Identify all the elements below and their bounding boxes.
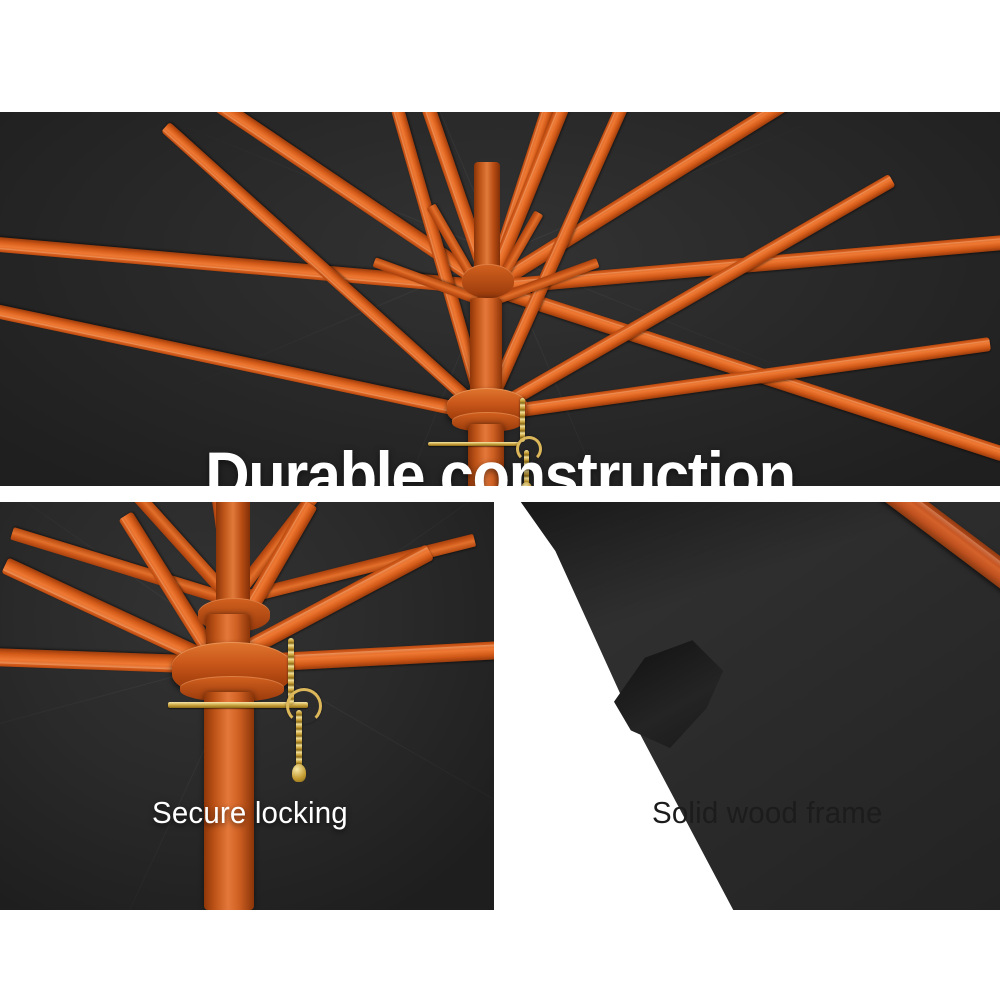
brass-chain-end <box>292 764 306 782</box>
feature-panel-solid-wood-frame <box>506 502 1000 910</box>
feature-panel-secure-locking <box>0 502 494 910</box>
hero-panel: Durable construction 8-rib support for A… <box>0 112 1000 486</box>
brass-hook-icon <box>516 436 542 462</box>
brass-chain-tail <box>296 710 302 768</box>
canopy-edge-shadow <box>506 502 1000 910</box>
umbrella-runner-sleeve <box>216 502 250 612</box>
brass-hook-icon <box>286 688 322 724</box>
product-feature-image: Durable construction 8-rib support for A… <box>0 0 1000 1000</box>
brass-locking-pin <box>428 442 520 446</box>
umbrella-upper-collar <box>462 264 514 298</box>
brass-chain-tail <box>524 450 529 486</box>
feature-caption-secure-locking: Secure locking <box>152 795 348 831</box>
brass-chain <box>520 398 525 442</box>
umbrella-pole-lower <box>468 424 504 486</box>
feature-caption-solid-wood-frame: Solid wood frame <box>652 795 883 831</box>
